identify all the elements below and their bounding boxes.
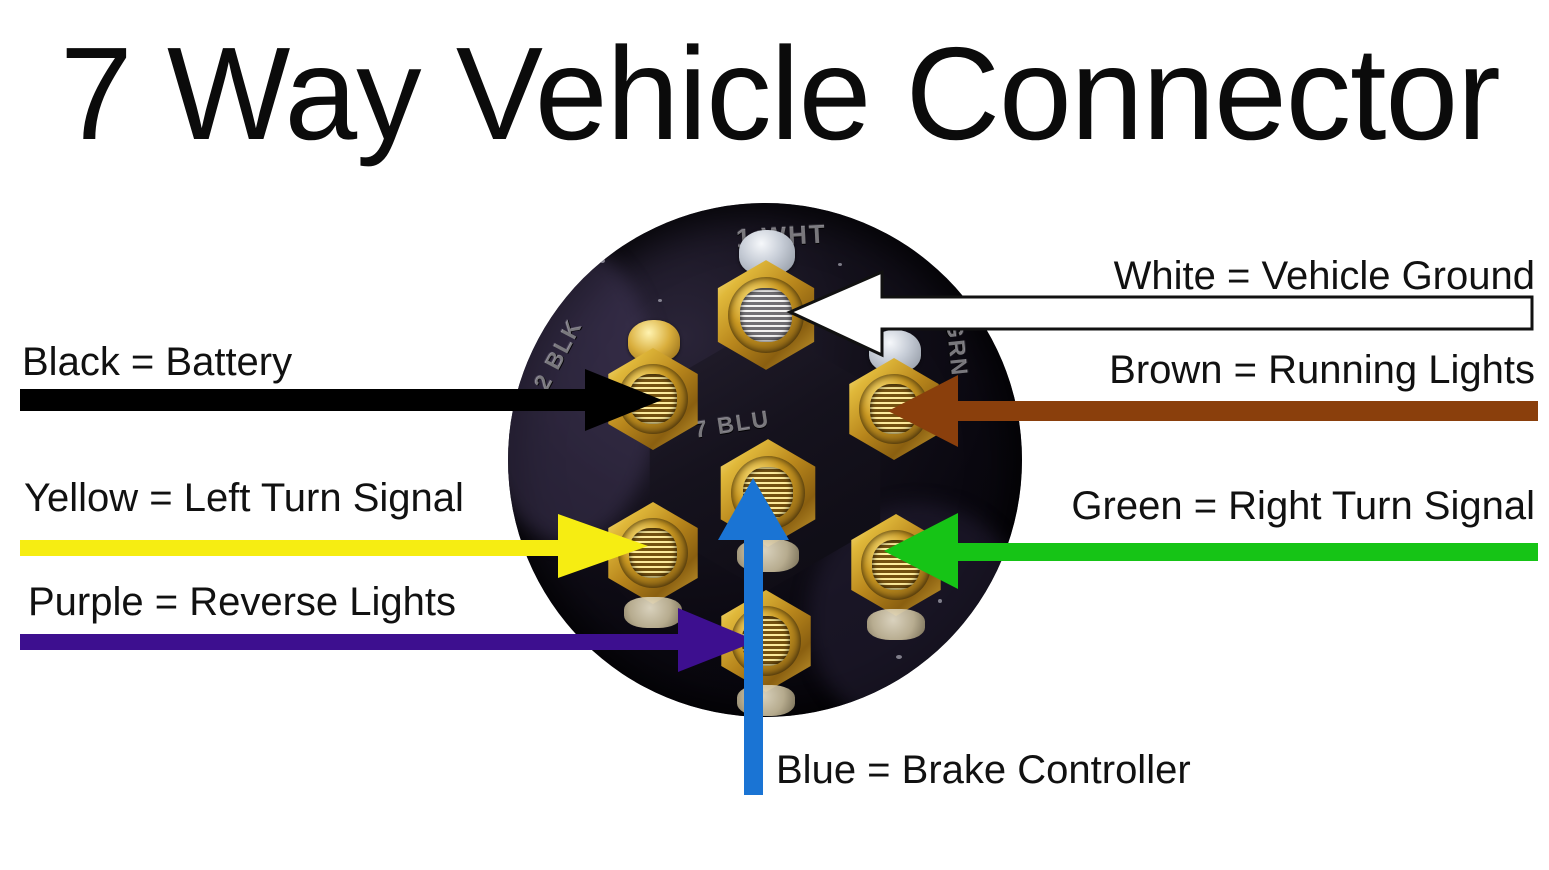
label-blue: Blue = Brake Controller bbox=[776, 748, 1191, 792]
label-purple: Purple = Reverse Lights bbox=[28, 580, 456, 624]
terminal-lug bbox=[867, 609, 925, 640]
terminal-brown[interactable] bbox=[842, 357, 946, 461]
terminal-green[interactable] bbox=[844, 513, 948, 617]
terminal-blue[interactable] bbox=[713, 438, 823, 548]
label-brown: Brown = Running Lights bbox=[1109, 348, 1535, 392]
surface-speck bbox=[896, 655, 902, 659]
surface-speck bbox=[838, 263, 842, 266]
terminal-screw bbox=[870, 384, 918, 434]
terminal-purple[interactable] bbox=[714, 589, 818, 693]
label-yellow: Yellow = Left Turn Signal bbox=[24, 476, 464, 520]
terminal-screw bbox=[629, 374, 677, 424]
terminal-screw bbox=[872, 540, 920, 590]
terminal-lug bbox=[737, 539, 799, 572]
label-white: White = Vehicle Ground bbox=[1114, 254, 1535, 298]
terminal-lug bbox=[737, 685, 795, 716]
terminal-black[interactable] bbox=[601, 347, 705, 451]
label-black: Black = Battery bbox=[22, 340, 292, 384]
terminal-yellow[interactable] bbox=[601, 501, 705, 605]
surface-speck bbox=[696, 633, 700, 636]
page-title: 7 Way Vehicle Connector bbox=[60, 14, 1505, 174]
label-green: Green = Right Turn Signal bbox=[1071, 484, 1535, 528]
terminal-white[interactable] bbox=[710, 259, 822, 371]
surface-speck bbox=[600, 259, 605, 263]
diagram-canvas: 7 Way Vehicle Connector 1 WHT 2 BLK 7 BL… bbox=[0, 0, 1549, 870]
surface-speck bbox=[658, 299, 662, 302]
connector-photo: 1 WHT 2 BLK 7 BLU GRN bbox=[508, 203, 1022, 717]
terminal-screw bbox=[743, 467, 794, 520]
terminal-screw bbox=[742, 616, 790, 666]
surface-speck bbox=[568, 393, 574, 397]
terminal-screw bbox=[629, 528, 677, 578]
terminal-lug bbox=[624, 597, 682, 628]
terminal-screw bbox=[740, 288, 792, 342]
